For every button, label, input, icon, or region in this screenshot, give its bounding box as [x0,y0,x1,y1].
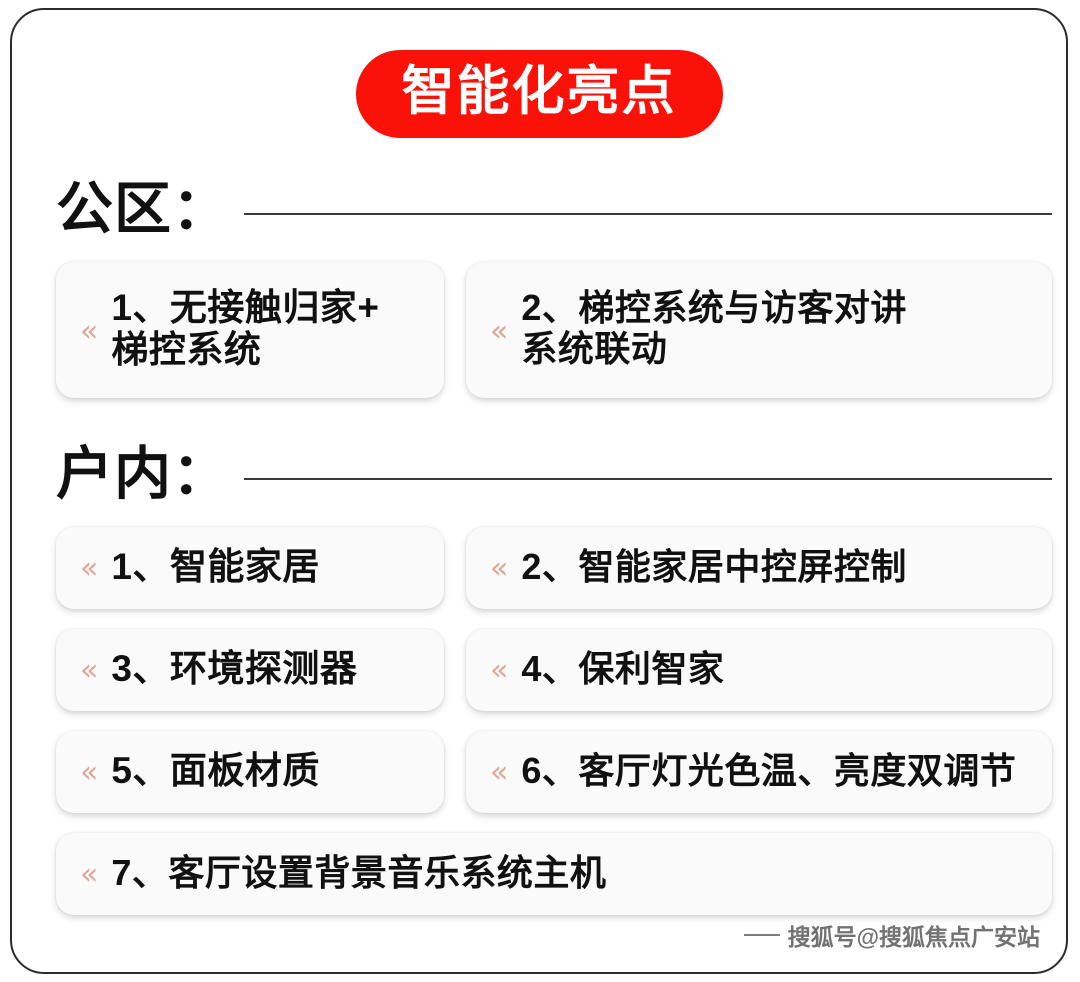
list-item-label: 3、环境探测器 [111,648,357,690]
list-item-label: 2、梯控系统与访客对讲 系统联动 [521,288,907,369]
watermark-text: 搜狐号@搜狐焦点广安站 [788,918,1040,952]
watermark: 搜狐号@搜狐焦点广安站 [744,918,1040,952]
title-row: 智能化亮点 [12,50,1066,138]
double-chevron-left-icon: « [80,656,98,686]
double-chevron-left-icon: « [490,656,508,686]
list-item[interactable]: « 7、客厅设置背景音乐系统主机 [56,833,1052,915]
double-chevron-left-icon: « [80,860,98,890]
list-item-label: 4、保利智家 [521,649,724,690]
section-title-indoor: 户内： [56,446,230,503]
double-chevron-left-icon: « [80,554,98,584]
section-title-public-area: 公区： [56,181,230,238]
watermark-dash [744,934,780,936]
list-item[interactable]: « 6、客厅灯光色温、亮度双调节 [466,731,1052,813]
card-grid-indoor: « 1、智能家居 « 2、智能家居中控屏控制 « 3、环境探测器 « 4、保利智… [56,527,1052,915]
list-item-label: 6、客厅灯光色温、亮度双调节 [521,751,1016,792]
list-item[interactable]: « 1、智能家居 [56,527,444,609]
list-item[interactable]: « 4、保利智家 [466,629,1052,711]
list-item-label: 2、智能家居中控屏控制 [521,547,907,588]
section-public-area: 公区： « 1、无接触归家+ 梯控系统 « 2、梯控系统与访客对讲 系统联动 [56,170,1052,398]
section-header-indoor: 户内： [56,435,1052,513]
double-chevron-left-icon: « [490,317,508,347]
list-item-label: 1、智能家居 [111,546,320,588]
double-chevron-left-icon: « [80,317,98,347]
list-item[interactable]: « 3、环境探测器 [56,629,444,711]
section-indoor: 户内： « 1、智能家居 « 2、智能家居中控屏控制 « 3、环境探测器 « 4… [56,435,1052,915]
list-item[interactable]: « 2、梯控系统与访客对讲 系统联动 [466,262,1052,398]
list-item-label: 1、无接触归家+ 梯控系统 [111,287,379,371]
double-chevron-left-icon: « [490,758,508,788]
section-divider-indoor [244,478,1052,480]
list-item-label: 5、面板材质 [111,750,320,792]
double-chevron-left-icon: « [80,758,98,788]
card-grid-public-area: « 1、无接触归家+ 梯控系统 « 2、梯控系统与访客对讲 系统联动 [56,262,1052,398]
section-divider-public-area [244,213,1052,215]
section-header-public-area: 公区： [56,170,1052,248]
list-item[interactable]: « 1、无接触归家+ 梯控系统 [56,262,444,398]
list-item[interactable]: « 5、面板材质 [56,731,444,813]
double-chevron-left-icon: « [490,554,508,584]
page-frame: 智能化亮点 公区： « 1、无接触归家+ 梯控系统 « 2、梯控系统与访客对讲 … [10,8,1068,974]
list-item-label: 7、客厅设置背景音乐系统主机 [111,853,606,894]
page-title-badge: 智能化亮点 [356,50,723,138]
list-item[interactable]: « 2、智能家居中控屏控制 [466,527,1052,609]
